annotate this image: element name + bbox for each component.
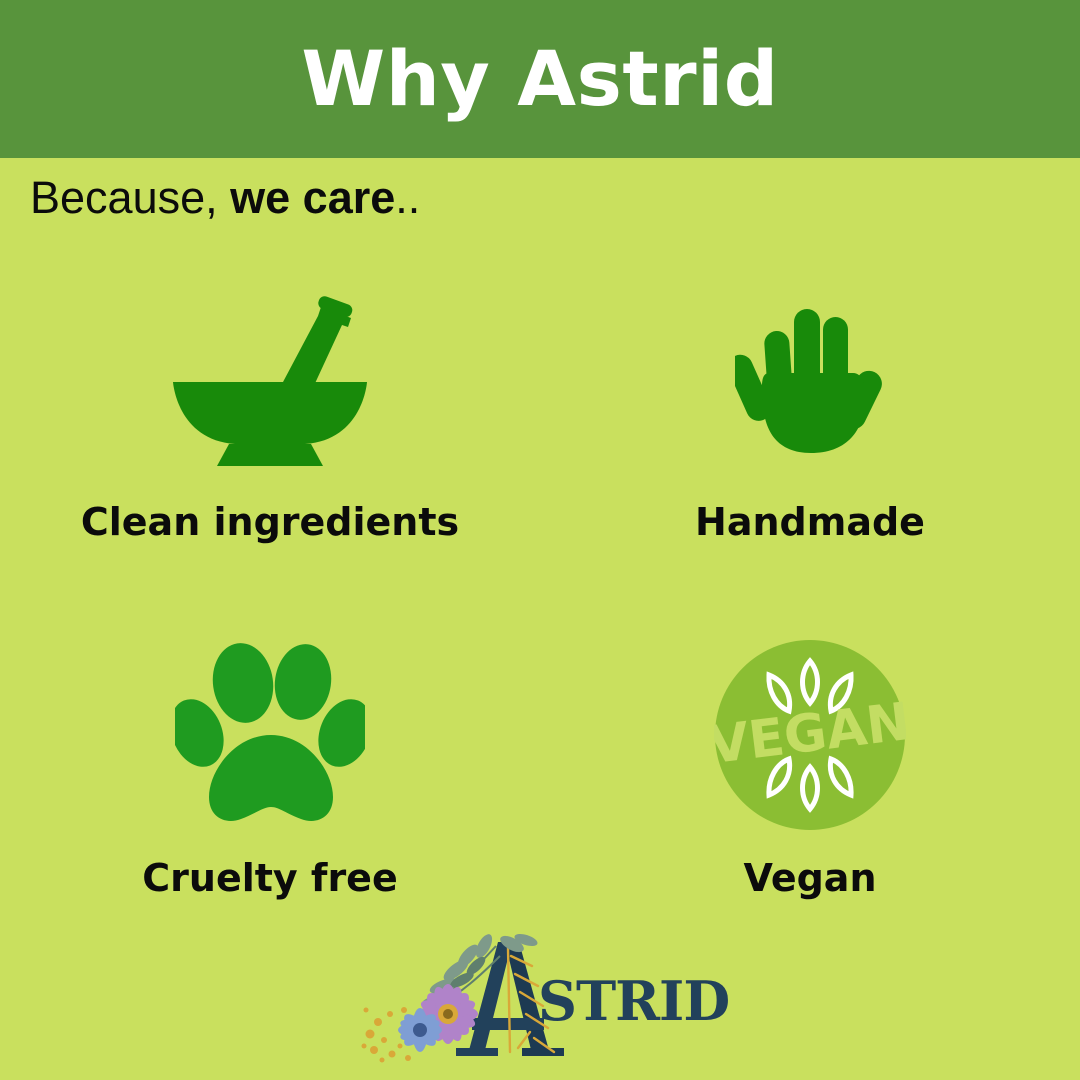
paw-print-icon	[175, 640, 365, 830]
feature-label-clean-ingredients: Clean ingredients	[81, 500, 459, 544]
feature-cruelty-free: Cruelty free	[0, 618, 540, 968]
feature-label-cruelty-free: Cruelty free	[142, 856, 397, 900]
tagline-emphasis: we care	[230, 172, 395, 223]
feature-grid: Clean ingredients	[0, 268, 1080, 968]
feature-vegan: VEGAN Vegan	[540, 618, 1080, 968]
hand-palm-icon	[735, 286, 885, 476]
feature-handmade: Handmade	[540, 268, 1080, 618]
tagline: Because, we care..	[30, 172, 420, 224]
feature-label-handmade: Handmade	[695, 500, 925, 544]
feature-clean-ingredients: Clean ingredients	[0, 268, 540, 618]
mortar-and-pestle-icon	[155, 286, 385, 476]
vegan-badge-icon: VEGAN	[714, 640, 906, 830]
tagline-prefix: Because,	[30, 172, 230, 223]
page-header: Why Astrid	[0, 0, 1080, 158]
page-title: Why Astrid	[301, 41, 778, 117]
astrid-logo-wordmark: STRID	[538, 974, 729, 1028]
tagline-suffix: ..	[395, 172, 420, 223]
feature-label-vegan: Vegan	[744, 856, 877, 900]
astrid-logo: STRID	[360, 930, 720, 1080]
